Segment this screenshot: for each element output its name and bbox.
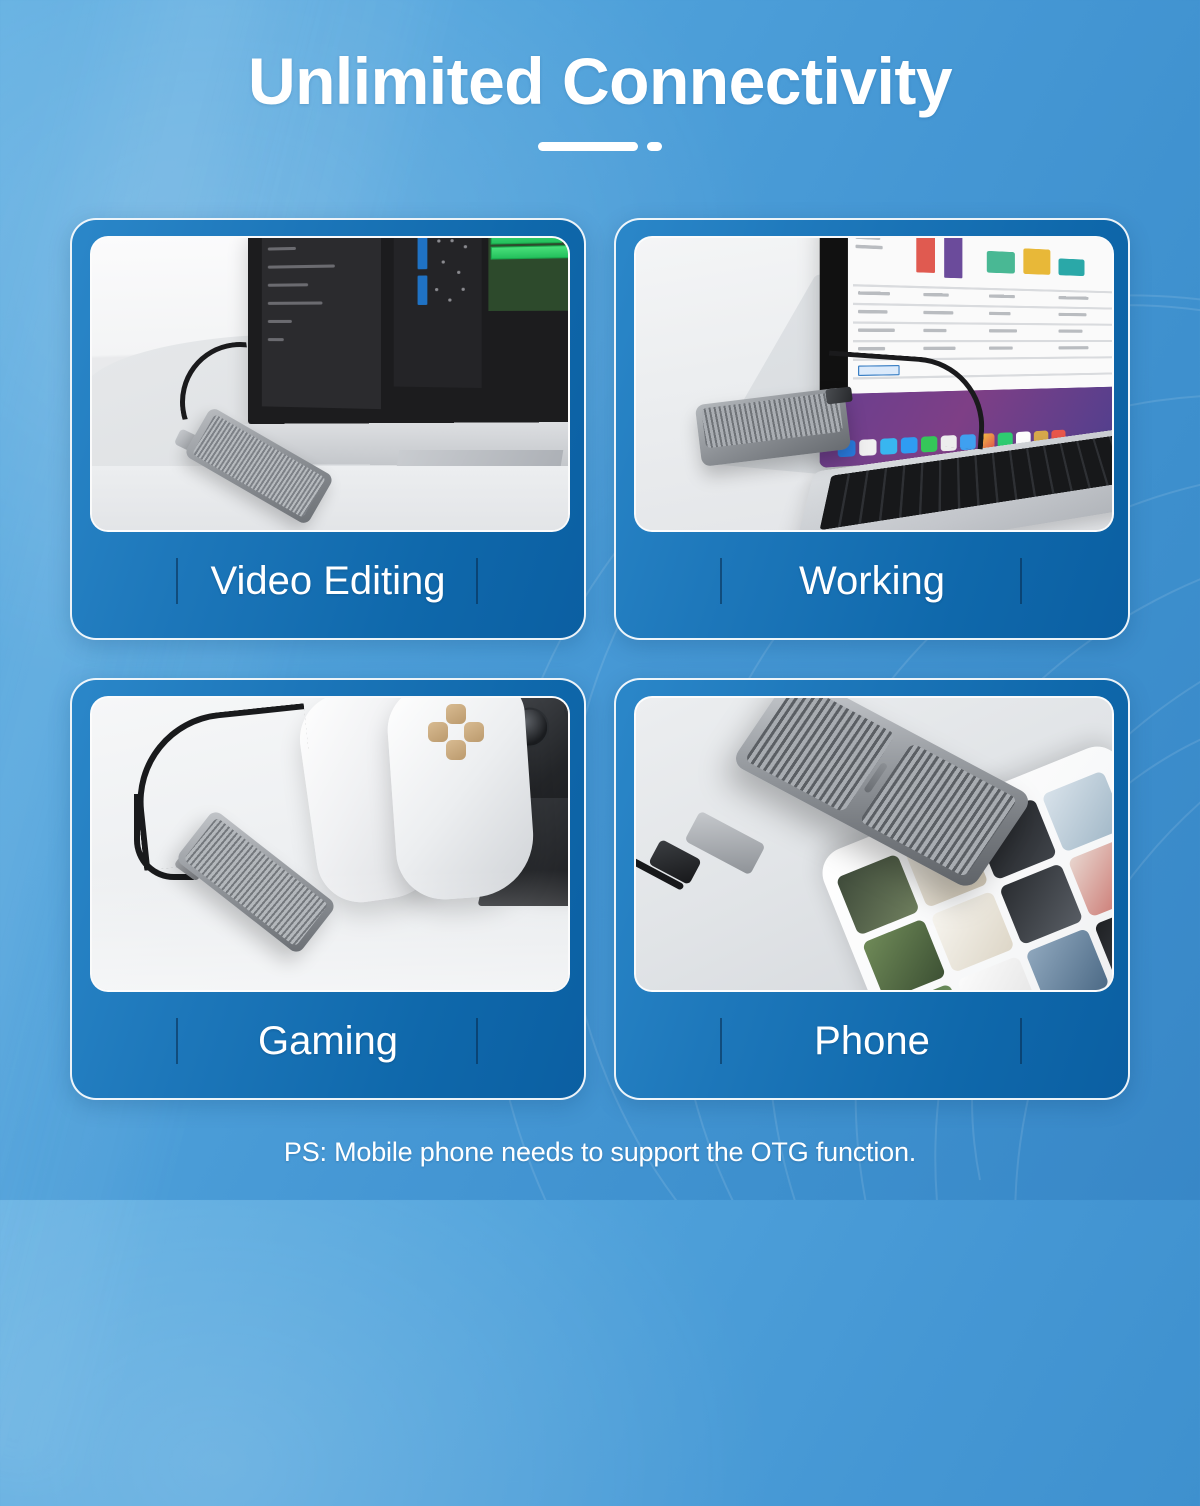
- card-slot-working: Working: [600, 218, 1130, 640]
- card-label-gaming: Gaming: [72, 1012, 584, 1070]
- feature-card-working[interactable]: Working: [614, 218, 1130, 640]
- card-footer-video-editing: Video Editing: [72, 530, 584, 638]
- title-divider: [0, 142, 1200, 151]
- card-slot-gaming: Gaming: [70, 678, 600, 1100]
- video-timeline: [488, 236, 570, 311]
- photo-gaming: [90, 696, 570, 992]
- card-footer-phone: Phone: [616, 990, 1128, 1098]
- feature-card-gaming[interactable]: Gaming: [70, 678, 586, 1100]
- header: Unlimited Connectivity: [0, 0, 1200, 151]
- card-label-phone: Phone: [616, 1012, 1128, 1070]
- feature-card-grid: Video Editing: [70, 218, 1130, 1100]
- card-slot-video-editing: Video Editing: [70, 218, 600, 640]
- feature-card-video-editing[interactable]: Video Editing: [70, 218, 586, 640]
- dpad-icon: [428, 704, 484, 760]
- footer-note: PS: Mobile phone needs to support the OT…: [0, 1137, 1200, 1168]
- card-label-video-editing: Video Editing: [72, 552, 584, 610]
- card-footer-gaming: Gaming: [72, 990, 584, 1098]
- divider-bar: [538, 142, 638, 151]
- card-label-working: Working: [616, 552, 1128, 610]
- imac-monitor-icon: [248, 236, 570, 435]
- usb-c-plug: [825, 386, 853, 404]
- divider-dot: [647, 142, 662, 151]
- photo-working: [634, 236, 1114, 532]
- feature-card-phone[interactable]: Phone: [614, 678, 1130, 1100]
- photo-video-editing: [90, 236, 570, 532]
- photo-phone: [634, 696, 1114, 992]
- page-title: Unlimited Connectivity: [0, 44, 1200, 120]
- card-slot-phone: Phone: [600, 678, 1130, 1100]
- card-footer-working: Working: [616, 530, 1128, 638]
